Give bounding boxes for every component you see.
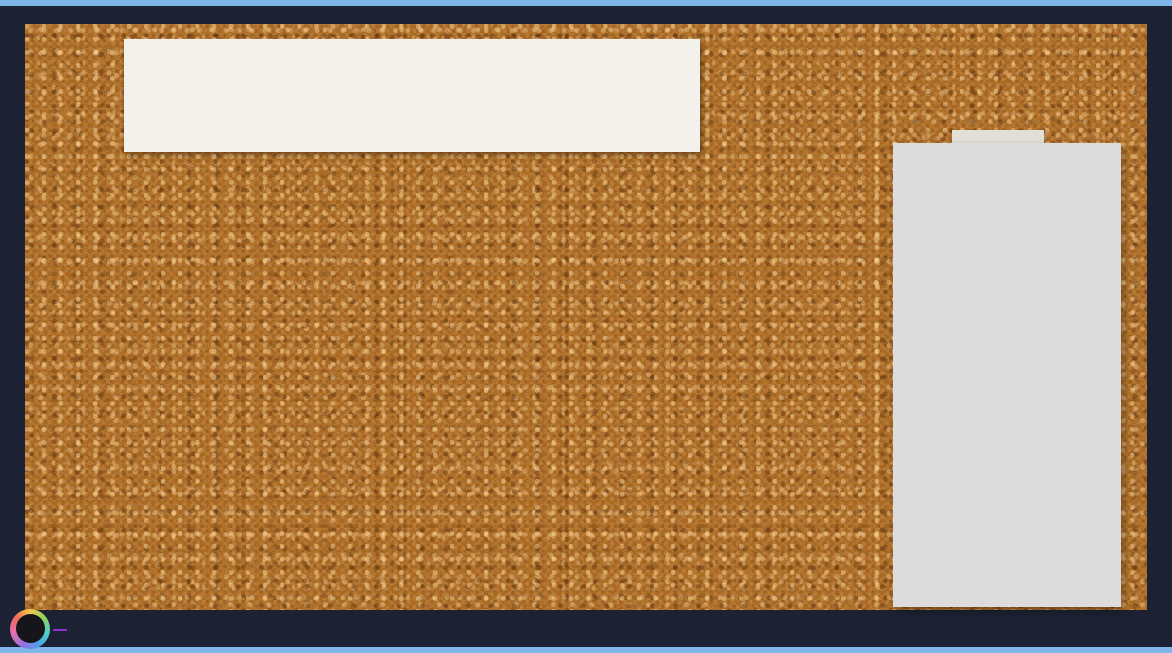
genially-mark-letter — [16, 614, 45, 643]
genially-logo[interactable] — [10, 606, 150, 651]
genially-wordmark — [53, 626, 67, 631]
genially-mark-icon — [10, 609, 50, 649]
poster-canvas — [0, 0, 1172, 653]
title-banner — [124, 39, 700, 152]
title-subrow — [124, 45, 700, 51]
procedure-panel — [893, 143, 1121, 607]
genially-edition-badge — [53, 629, 67, 631]
